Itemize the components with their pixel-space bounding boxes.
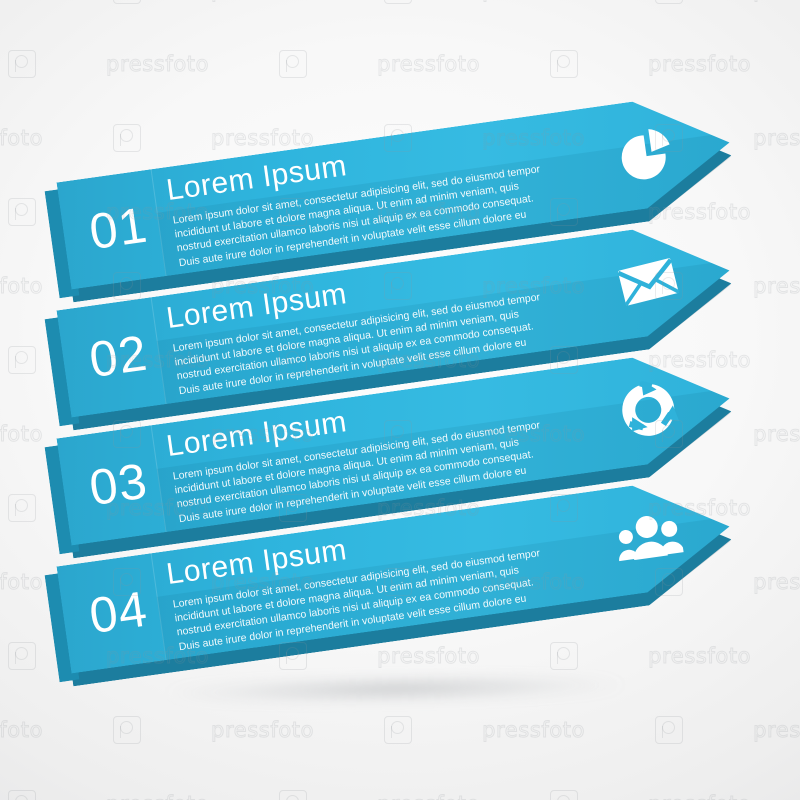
pie-chart-icon: [610, 118, 686, 189]
banner-step-number: 02: [72, 326, 164, 387]
infographic-canvas: 01 Lorem Ipsum Lorem ipsum dolor sit ame…: [0, 0, 800, 800]
arrow-banner-list: 01 Lorem Ipsum Lorem ipsum dolor sit ame…: [0, 0, 800, 800]
envelope-icon: [610, 246, 686, 317]
users-group-icon: [610, 502, 686, 573]
banner-step-number: 04: [72, 582, 164, 643]
banner-step-number: 01: [72, 198, 164, 259]
refresh-cycle-icon: [610, 374, 686, 445]
banner-step-number: 03: [72, 454, 164, 515]
